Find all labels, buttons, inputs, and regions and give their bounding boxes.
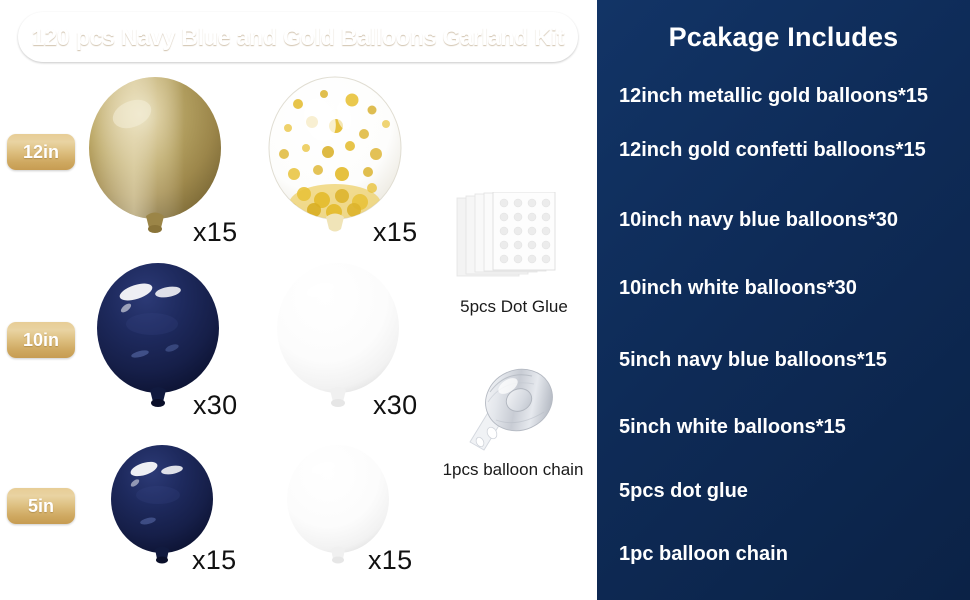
list-item: 5inch white balloons*15 (619, 417, 964, 437)
list-item: 10inch navy blue balloons*30 (619, 210, 964, 230)
product-infographic: 120 pcs Navy Blue and Gold Balloons Garl… (0, 0, 970, 600)
size-label-12in-text: 12in (23, 142, 59, 163)
package-includes-panel: Pcakage Includes 12inch metallic gold ba… (597, 0, 970, 600)
balloon-navy-blue-10in: x30 (96, 262, 221, 417)
title-banner-text: 120 pcs Navy Blue and Gold Balloons Garl… (32, 24, 565, 51)
package-includes-heading: Pcakage Includes (597, 22, 970, 53)
balloon-metallic-gold-12in: x15 (88, 76, 223, 244)
size-label-10in: 10in (7, 322, 75, 358)
quantity-gold-confetti-12in: x15 (373, 217, 417, 248)
size-label-12in: 12in (7, 134, 75, 170)
balloon-white-10in: x30 (276, 262, 401, 417)
balloon-white-5in: x15 (286, 445, 391, 570)
title-banner: 120 pcs Navy Blue and Gold Balloons Garl… (18, 12, 578, 62)
size-label-5in-text: 5in (28, 496, 54, 517)
caption-dot-glue: 5pcs Dot Glue (449, 297, 579, 317)
quantity-metallic-gold-12in: x15 (193, 217, 237, 248)
list-item: 12inch metallic gold balloons*15 (619, 86, 964, 106)
balloon-navy-blue-5in: x15 (110, 445, 215, 570)
size-label-5in: 5in (7, 488, 75, 524)
dot-glue-sheets-icon (455, 192, 570, 292)
list-item: 5inch navy blue balloons*15 (619, 350, 964, 370)
list-item: 5pcs dot glue (619, 481, 964, 501)
accessory-dot-glue: 5pcs Dot Glue (455, 192, 570, 297)
quantity-navy-blue-10in: x30 (193, 390, 237, 421)
list-item: 10inch white balloons*30 (619, 278, 964, 298)
quantity-white-5in: x15 (368, 545, 412, 576)
size-label-10in-text: 10in (23, 330, 59, 351)
accessory-balloon-chain: 1pcs balloon chain (462, 362, 567, 462)
quantity-white-10in: x30 (373, 390, 417, 421)
balloon-gold-confetti-12in: x15 (268, 76, 403, 244)
tape-roll-icon (462, 362, 567, 457)
list-item: 1pc balloon chain (619, 544, 964, 564)
caption-balloon-chain: 1pcs balloon chain (418, 460, 608, 480)
package-includes-list: 12inch metallic gold balloons*15 12inch … (619, 86, 964, 564)
list-item: 12inch gold confetti balloons*15 (619, 140, 964, 160)
quantity-navy-blue-5in: x15 (192, 545, 236, 576)
